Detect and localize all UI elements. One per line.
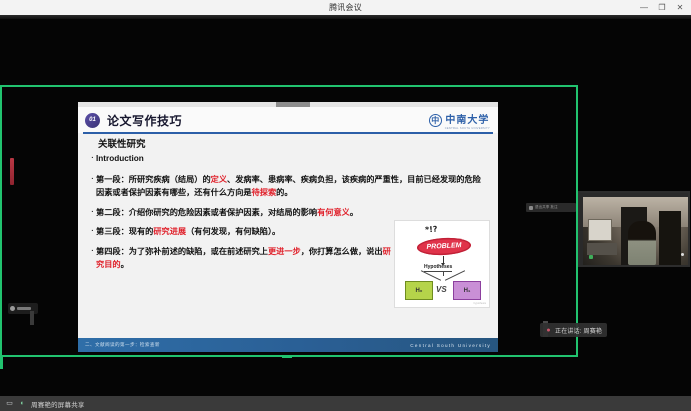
window-titlebar: 腾讯会议 — ❐ ✕ [0,0,691,15]
university-name-cn: 中南大学 [445,111,489,126]
bullet-text-segment: 的。 [276,188,292,197]
diagram-hypotheses-label: Hypotheses [424,264,452,272]
diagram-arrow-icon [443,256,444,263]
slide-bullet-text: 第二段：介绍你研究的危险因素或者保护因素，对结局的影响有何意义。 [96,206,489,219]
window-title: 腾讯会议 [329,2,362,13]
video-bg-monitor [588,219,612,241]
mini-toolbar-label: 退出共享 批注 [535,205,558,210]
video-bg-desk [587,243,617,255]
bullet-text-segment: （有何发现，有何缺陷）。 [186,227,280,236]
bullet-text-segment: Introduction [96,154,144,163]
slide-header: 01 论文写作技巧 中 中南大学 CENTRAL SOUTH UNIVERSIT… [78,107,498,133]
microphone-icon[interactable]: ◐ [18,399,27,408]
status-bar-label: 周赛艳的屏幕共享 [31,399,85,409]
screen-share-icon: ▭ [5,399,14,408]
highlighted-term: 待探索 [252,188,277,197]
diagram-branch-right [445,270,465,281]
slide-bullet: ·第二段：介绍你研究的危险因素或者保护因素，对结局的影响有何意义。 [89,206,489,219]
window-controls: — ❐ ✕ [635,0,689,15]
mini-toolbar-icon [529,206,533,210]
highlighted-term: 有何意义 [317,208,350,217]
slide-bullet: ·第一段：所研究疾病（结局）的定义、发病率、患病率、疾病负担，该疾病的严重性，目… [89,173,489,199]
diagram-exclamation-icon: *!? [425,225,438,235]
bottom-status-bar: ▭ ◐ 周赛艳的屏幕共享 [0,396,691,411]
bullet-marker-icon: · [89,245,96,258]
active-speaker-label: 正在讲话: 周赛艳 [555,326,602,335]
slide-footer-right: Central South University [410,343,491,348]
highlighted-term: 更进一步 [268,247,301,256]
university-logo: 中 中南大学 CENTRAL SOUTH UNIVERSITY [429,111,490,130]
video-indicator-green [589,255,593,259]
video-person-silhouette [628,221,656,265]
minimize-button[interactable]: — [635,0,653,15]
maximize-button[interactable]: ❐ [653,0,671,15]
bullet-text-segment: 第四段：为了弥补前述的缺陷，或在前述研究上 [96,247,268,256]
bullet-text-segment: 第三段：现有的 [96,227,153,236]
mic-icon: ● [545,326,552,335]
slide-header-rule [83,132,493,134]
slide-bullet: ·Introduction [89,152,489,165]
slide-footer-left: 二、文献阅读的第一步：检索查新 [85,342,160,348]
diagram-h1-node: H₁ [453,281,481,300]
highlighted-term: 定义 [211,175,227,184]
bullet-marker-icon: · [89,152,96,165]
diagram-problem-node: PROBLEM [417,237,472,257]
bullet-marker-icon: · [89,173,96,186]
bullet-text-segment: 。 [121,260,129,269]
slide-bullet-text: 第四段：为了弥补前述的缺陷，或在前述研究上更进一步，你打算怎么做，说出研究目的。 [96,245,396,271]
bullet-text-segment: 第二段：介绍你研究的危险因素或者保护因素，对结局的影响 [96,208,317,217]
hypothesis-diagram: *!? PROBLEM Hypotheses H₀ VS H₁ hypothes… [394,220,490,308]
annotation-marker [10,158,14,185]
diagram-vs-label: VS [436,285,447,294]
video-indicator-white [681,253,684,256]
floating-chip-icon [10,306,15,311]
bullet-text-segment: 。 [350,208,358,217]
video-bg-door-secondary [659,211,681,265]
bullet-marker-icon: · [89,206,96,219]
bullet-marker-icon: · [89,225,96,238]
slide-bullet-text: 第一段：所研究疾病（结局）的定义、发病率、患病率、疾病负担，该疾病的严重性，目前… [96,173,489,199]
share-frame-tick-left [0,355,3,369]
active-speaker-indicator: ● 正在讲话: 周赛艳 [540,323,607,337]
panel-tab-left[interactable] [30,311,34,325]
slide-section-title: 关联性研究 [98,136,146,150]
share-frame-tick-bottom [282,355,292,358]
university-logo-icon: 中 [429,114,442,127]
slide-title: 论文写作技巧 [107,112,182,129]
shared-slide: 01 论文写作技巧 中 中南大学 CENTRAL SOUTH UNIVERSIT… [78,102,498,352]
meeting-content-area: 01 论文写作技巧 中 中南大学 CENTRAL SOUTH UNIVERSIT… [0,15,691,396]
slide-section-badge: 01 [85,113,100,128]
tencent-meeting-window: 腾讯会议 — ❐ ✕ 01 论文写作技巧 [0,0,691,411]
participant-video-tile[interactable] [578,191,690,267]
highlighted-term: 研究进展 [153,227,186,236]
slide-footer: 二、文献阅读的第一步：检索查新 Central South University [78,338,498,352]
diagram-connector-line [443,271,444,276]
bullet-text-segment: ，你打算怎么做，说出 [301,247,383,256]
diagram-credit: hypothesis [474,302,486,305]
share-mini-toolbar[interactable]: 退出共享 批注 [526,203,576,212]
slide-bullet-text: Introduction [96,152,489,165]
diagram-h0-node: H₀ [405,281,433,300]
floating-chip-label [17,307,31,310]
university-name-en: CENTRAL SOUTH UNIVERSITY [445,127,490,130]
bullet-text-segment: 第一段：所研究疾病（结局）的 [96,175,211,184]
diagram-branch-left [421,270,441,281]
close-button[interactable]: ✕ [671,0,689,15]
participant-video-feed [583,197,689,265]
